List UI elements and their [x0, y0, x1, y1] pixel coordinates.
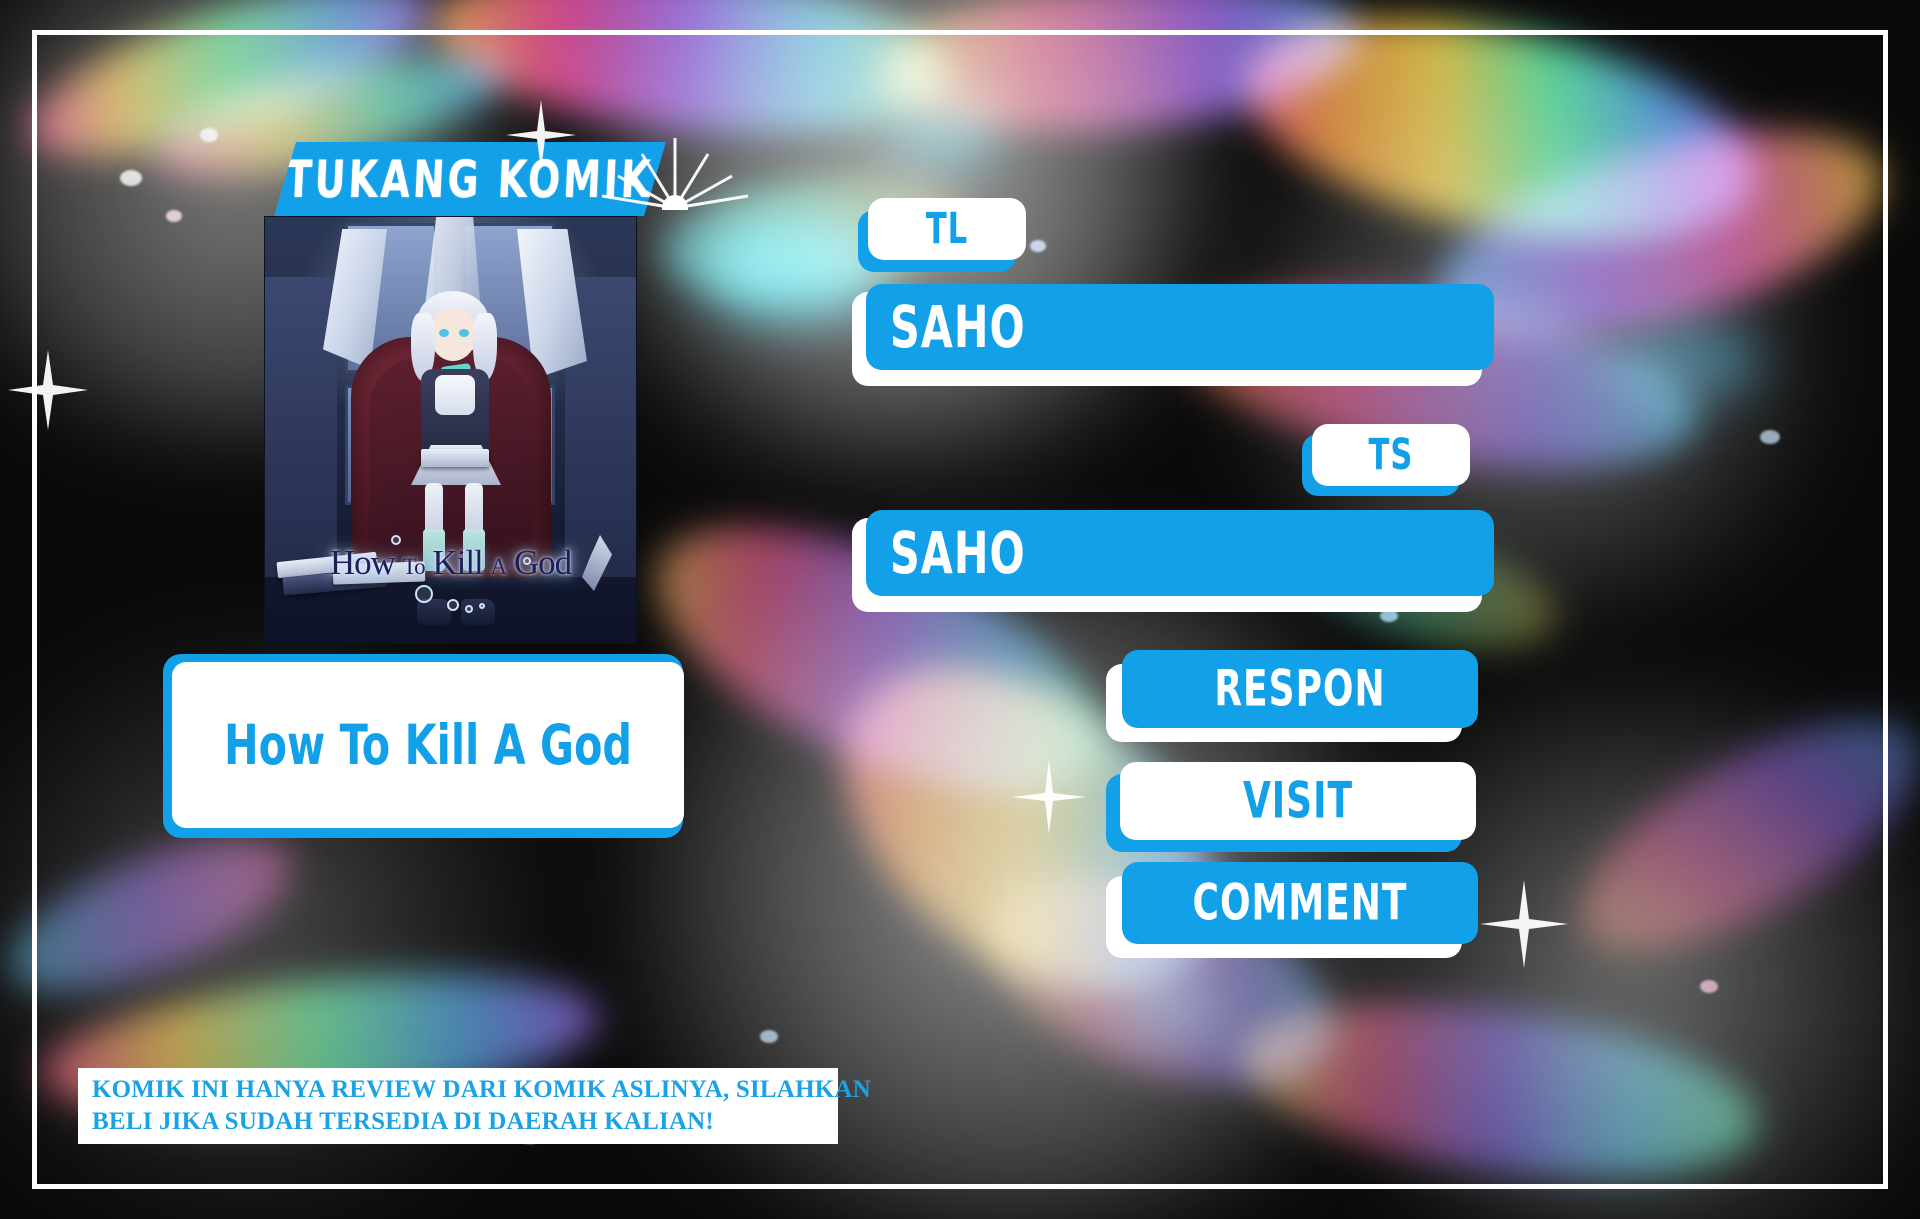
ts-role-badge[interactable]: TS	[1312, 424, 1470, 486]
tl-name-label: SAHO	[890, 298, 1026, 356]
ts-name-label: SAHO	[890, 524, 1026, 582]
visit-button-label: VISIT	[1243, 776, 1353, 826]
tl-name-bar[interactable]: SAHO	[866, 284, 1494, 370]
brand-banner: TUKANG KOMIK	[274, 142, 666, 216]
brand-banner-label: TUKANG KOMIK	[285, 149, 655, 209]
ts-name-bar[interactable]: SAHO	[866, 510, 1494, 596]
cover-art[interactable]: How To Kill A God	[264, 216, 637, 644]
title-card: How To Kill A God	[172, 662, 684, 828]
respon-button-label: RESPON	[1214, 664, 1385, 714]
disclaimer-line-1: KOMIK INI HANYA REVIEW DARI KOMIK ASLINY…	[92, 1074, 824, 1106]
disclaimer-note: KOMIK INI HANYA REVIEW DARI KOMIK ASLINY…	[78, 1068, 838, 1144]
comment-button-label: COMMENT	[1193, 878, 1408, 928]
tl-role-badge[interactable]: TL	[868, 198, 1026, 260]
tl-role-label: TL	[926, 208, 968, 251]
page-title: How To Kill A God	[224, 713, 632, 778]
cover-title-logo: How To Kill A God	[265, 543, 636, 583]
visit-button[interactable]: VISIT	[1120, 762, 1476, 840]
respon-button[interactable]: RESPON	[1122, 650, 1478, 728]
disclaimer-line-2: BELI JIKA SUDAH TERSEDIA DI DAERAH KALIA…	[92, 1106, 824, 1138]
comment-button[interactable]: COMMENT	[1122, 862, 1478, 944]
ts-role-label: TS	[1369, 434, 1414, 477]
